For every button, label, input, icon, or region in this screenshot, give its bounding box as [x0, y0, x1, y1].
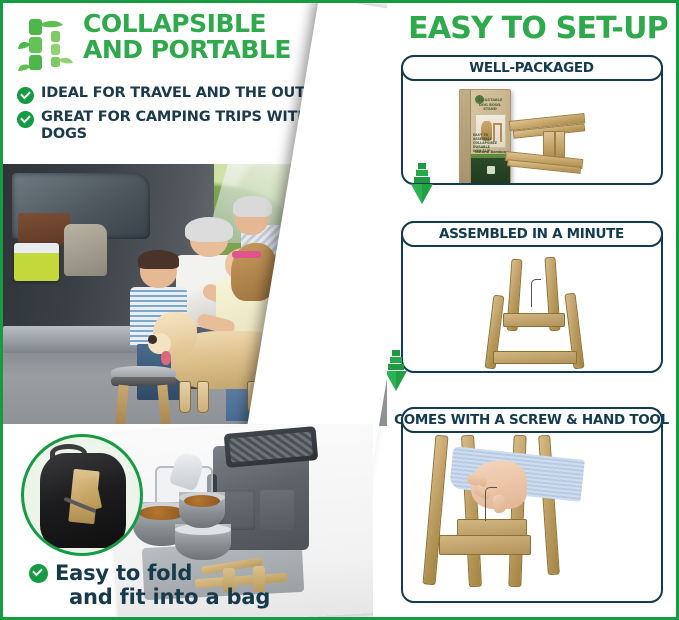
right-panel: EASY TO SET-UP WELL-PACKAGED ADJUSTABLE … — [387, 3, 679, 617]
stand-leg-1 — [422, 435, 448, 586]
headline-line-1: COLLAPSIBLE — [83, 9, 266, 38]
folded-stand-in-backpack-photo — [21, 434, 143, 556]
bamboo-stalks-icon — [17, 13, 79, 75]
hand-tightening-screw-photo — [403, 433, 661, 601]
photo-hex-tool — [531, 279, 541, 307]
check-circle-icon — [17, 111, 34, 128]
photo-bamboo-bowl-stand — [111, 366, 176, 424]
photo-backpack — [40, 453, 126, 548]
stand-crossbar-top — [503, 313, 565, 327]
check-circle-icon — [17, 87, 34, 104]
fold-caption-line-1: Easy to fold — [55, 561, 192, 585]
part-leg-2 — [555, 131, 565, 159]
photo-retail-package: ADJUSTABLE DOG BOWL STAND Natural Bamboo… — [459, 89, 511, 183]
photo-assembled-stand — [479, 255, 595, 371]
photo-cooler-box — [14, 243, 59, 282]
photo-duffel-bag — [64, 224, 107, 275]
stand-crossbar-2 — [439, 535, 531, 555]
step-header-label: ASSEMBLED IN A MINUTE — [439, 226, 624, 242]
step-card-assembled: ASSEMBLED IN A MINUTE — [401, 221, 663, 373]
fold-caption-line-2: and fit into a bag — [55, 585, 270, 609]
package-footer-band — [471, 158, 510, 183]
assembled-stand-upside-down-photo — [403, 247, 661, 371]
step-header: COMES WITH A SCREW & HAND TOOL — [401, 407, 663, 433]
check-circle-icon — [29, 564, 48, 583]
setup-section-title: EASY TO SET-UP — [405, 11, 671, 46]
package-brand-logo — [487, 166, 495, 174]
step-header-label: WELL-PACKAGED — [469, 60, 593, 76]
package-feature-list: EASY TO ASSEMBLE COLLAPSIBLE DURABLE NON… — [473, 133, 499, 153]
photo-second-bowl — [179, 492, 225, 528]
photo-hex-tool — [485, 487, 497, 521]
stand-crossbar-bottom — [493, 351, 577, 364]
step-card-screw-and-tool: COMES WITH A SCREW & HAND TOOL — [401, 407, 663, 603]
left-panel: COLLAPSIBLE AND PORTABLE IDEAL FOR TRAVE… — [3, 3, 387, 617]
product-infographic: COLLAPSIBLE AND PORTABLE IDEAL FOR TRAVE… — [0, 0, 679, 620]
step-header: WELL-PACKAGED — [401, 55, 663, 81]
step-card-well-packaged: WELL-PACKAGED ADJUSTABLE DOG BOWL STAND … — [401, 55, 663, 185]
photo-wood-crate — [18, 213, 70, 244]
retail-box-with-stand-parts-photo: ADJUSTABLE DOG BOWL STAND Natural Bamboo… — [403, 81, 661, 183]
step-arrow-down-1 — [407, 163, 437, 205]
package-title: ADJUSTABLE DOG BOWL STAND — [474, 98, 506, 112]
fold-caption-text: Easy to fold and fit into a bag — [55, 561, 270, 609]
fold-caption: Easy to fold and fit into a bag — [29, 561, 270, 609]
package-spine — [460, 90, 471, 183]
photo-stand-parts — [509, 111, 595, 173]
step-header: ASSEMBLED IN A MINUTE — [401, 221, 663, 247]
step-header-label: COMES WITH A SCREW & HAND TOOL — [394, 412, 669, 428]
photo-stand-closeup — [419, 435, 579, 597]
photo-hand — [471, 461, 527, 509]
